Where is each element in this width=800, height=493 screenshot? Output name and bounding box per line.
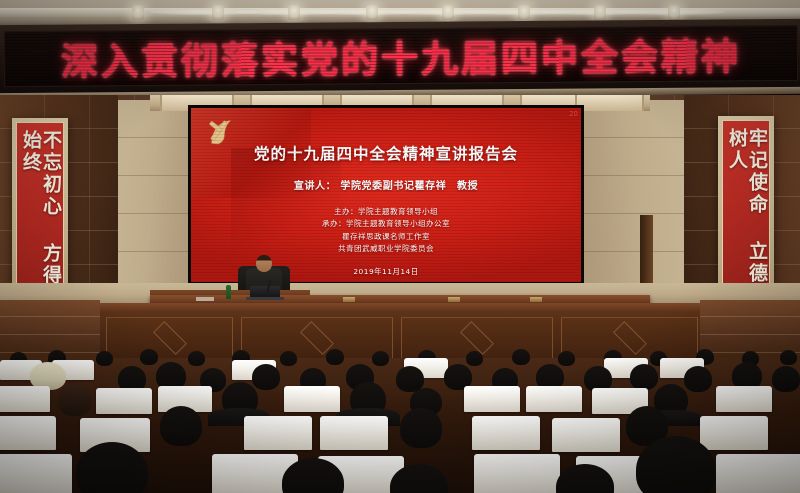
attendee-head [630, 364, 658, 390]
led-banner: 深入贯彻落实党的十九届四中全会精神 [0, 19, 800, 95]
main-screen-frame: 党的十九届四中全会精神宣讲报告会 宣讲人： 学院党委副书记瞿存祥 教授 主办：学… [188, 105, 584, 285]
seat-cover [244, 416, 312, 450]
seat-cover [0, 386, 50, 412]
attendee-head [58, 384, 92, 416]
step-edge [700, 316, 800, 317]
seat-cover [472, 416, 540, 450]
desk-nameplate [530, 297, 542, 302]
ceiling-downlight [442, 5, 454, 20]
seat-cover [552, 418, 620, 452]
step-edge [0, 316, 100, 317]
laptop-base [246, 297, 284, 300]
vertical-banner-left-face: 不忘初心 方得始终 [16, 122, 64, 302]
speaker-head [256, 255, 272, 272]
attendee-head [140, 349, 158, 365]
seat-cover [526, 386, 582, 412]
attendee-head [512, 349, 530, 365]
ceiling-downlight [594, 5, 606, 20]
seat-cover [0, 454, 72, 493]
attendee-head [780, 350, 797, 365]
ceiling-downlight [212, 5, 224, 20]
seat-cover [700, 416, 768, 450]
attendee-head [188, 351, 205, 366]
attendee-head [252, 364, 280, 390]
ceiling-downlight [366, 5, 378, 20]
attendee-head [372, 351, 389, 366]
ceiling-downlight [288, 5, 300, 20]
attendee-head [326, 349, 344, 365]
vertical-banner-left-text: 不忘初心 方得始终 [20, 130, 60, 301]
seat-cover [96, 388, 152, 414]
led-scanline-overlay [5, 26, 797, 86]
attendee-head [772, 366, 800, 392]
vertical-banner-right: 牢记使命 立德树人 [718, 116, 774, 304]
ceiling-downlight [668, 5, 680, 20]
screen-scanline-overlay [191, 108, 581, 282]
attendee-head [400, 408, 442, 448]
step-edge [700, 334, 800, 335]
attendee-head [558, 351, 575, 366]
seat-cover [0, 416, 56, 450]
attendee-head [96, 351, 113, 366]
auditorium-scene: 深入贯彻落实党的十九届四中全会精神 不忘初心 方得始终 牢记使命 [0, 0, 800, 493]
seat-cover [716, 454, 800, 493]
vertical-banner-right-face: 牢记使命 立德树人 [722, 120, 770, 300]
water-bottle [226, 285, 231, 299]
seat-cover [716, 386, 772, 412]
seat-cover [284, 386, 340, 412]
papers-on-desk [196, 297, 214, 301]
attendee-head [466, 351, 483, 366]
audience-area [0, 346, 800, 493]
ceiling-downlight [518, 5, 530, 20]
attendee-head [280, 351, 297, 366]
ceiling-downlight [132, 5, 144, 20]
vertical-banner-left: 不忘初心 方得始终 [12, 118, 68, 306]
seat-cover [320, 416, 388, 450]
desk-nameplate [448, 297, 460, 302]
attendee-head [160, 406, 202, 446]
soffit-coffer [575, 95, 644, 111]
vertical-banner-right-text: 牢记使命 立德树人 [726, 128, 766, 299]
seat-cover [464, 386, 520, 412]
desk-nameplate [343, 297, 355, 302]
main-screen: 党的十九届四中全会精神宣讲报告会 宣讲人： 学院党委副书记瞿存祥 教授 主办：学… [191, 108, 581, 282]
step-edge [0, 334, 100, 335]
led-banner-screen: 深入贯彻落实党的十九届四中全会精神 [4, 25, 798, 87]
seat-cover [474, 454, 560, 493]
attendee-head [684, 366, 712, 392]
